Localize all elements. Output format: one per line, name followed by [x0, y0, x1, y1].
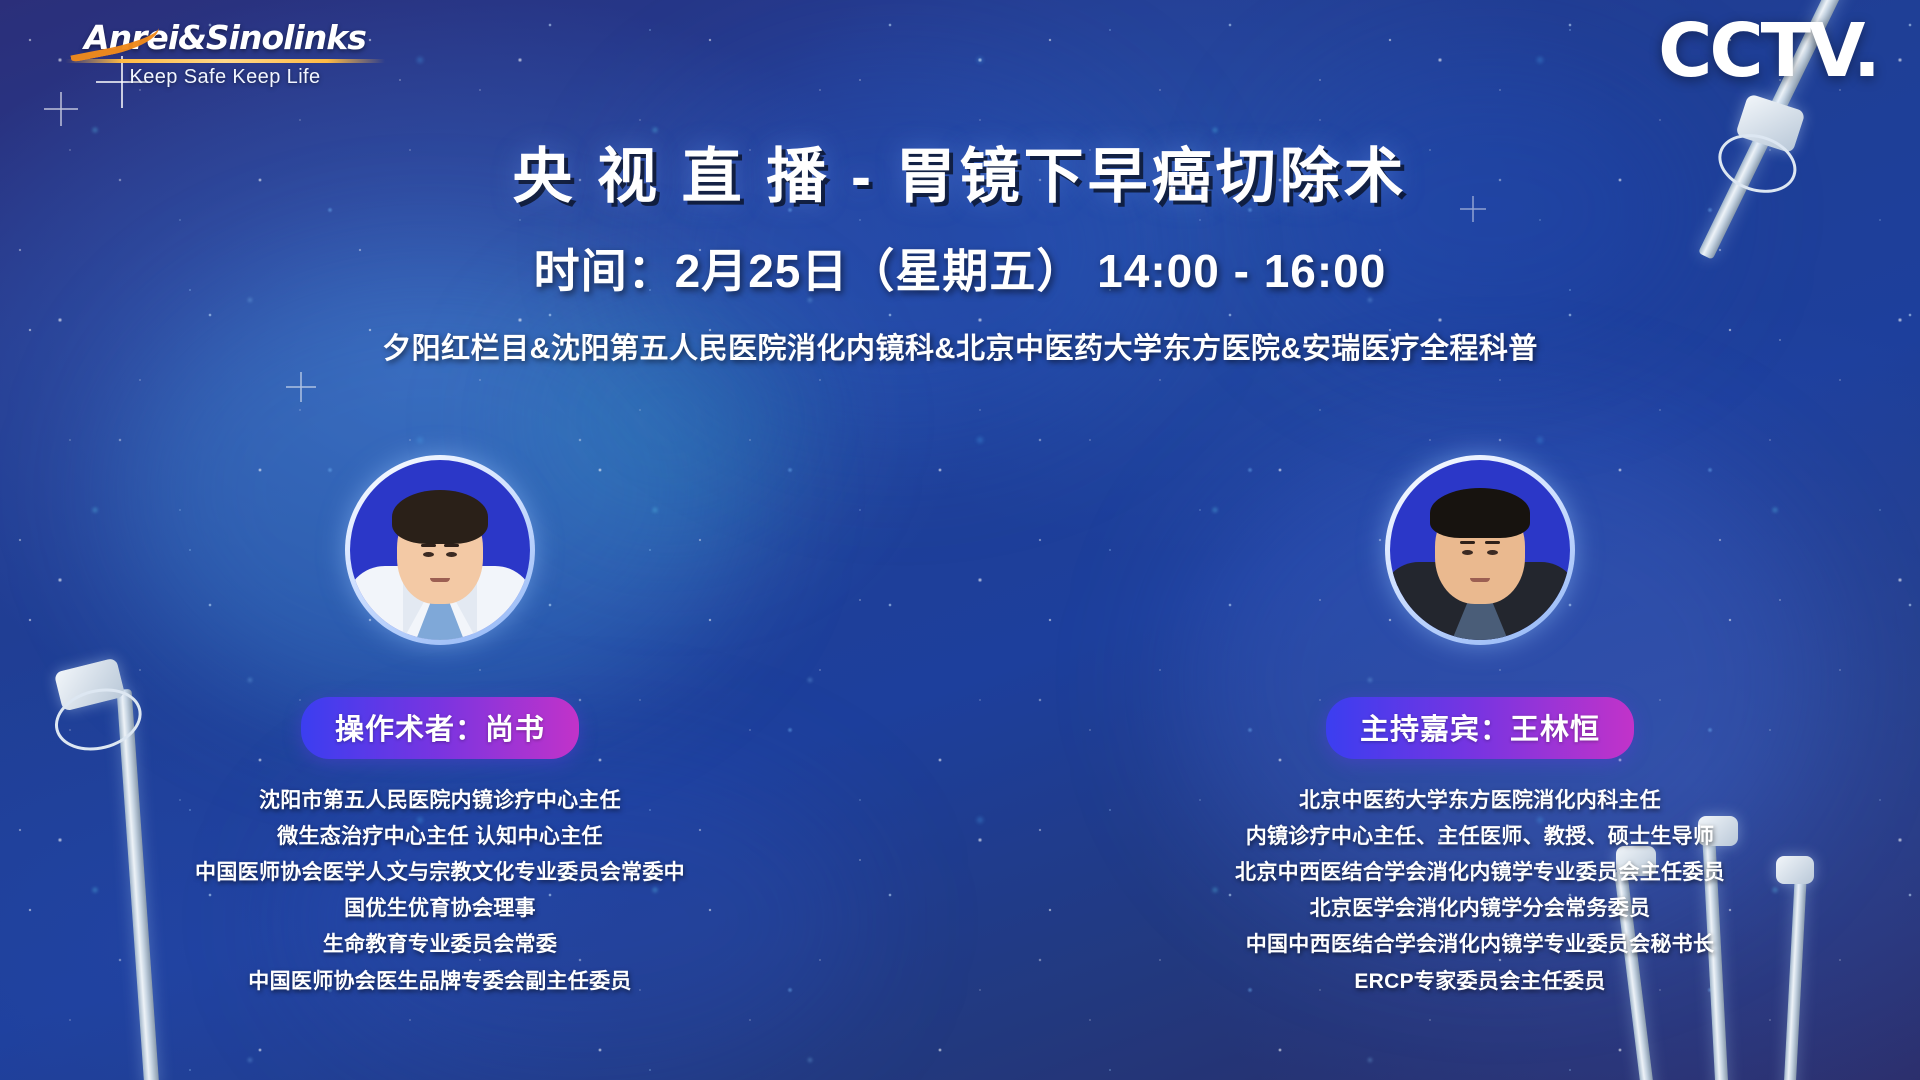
credential-line: ERCP专家委员会主任委员 [1200, 964, 1760, 1000]
brand-tagline: Keep Safe Keep Life [60, 66, 390, 89]
page-title: 央 视 直 播 - 胃镜下早癌切除术 [0, 128, 1920, 215]
credential-line: 沈阳市第五人民医院内镜诊疗中心主任 [160, 783, 720, 819]
avatar-portrait [350, 460, 530, 640]
cctv-logo: CCTV. [1658, 14, 1878, 88]
credential-line: 北京中西医结合学会消化内镜学专业委员会主任委员 [1200, 855, 1760, 891]
speaker-name-badge: 操作术者：尚书 [301, 697, 579, 759]
organizations-line: 夕阳红栏目&沈阳第五人民医院消化内镜科&北京中医药大学东方医院&安瑞医疗全程科普 [0, 325, 1920, 367]
speakers-section: 操作术者：尚书 沈阳市第五人民医院内镜诊疗中心主任 微生态治疗中心主任 认知中心… [0, 455, 1920, 1000]
credential-line: 中国医师协会医生品牌专委会副主任委员 [160, 964, 720, 1000]
speaker-credentials: 北京中医药大学东方医院消化内科主任 内镜诊疗中心主任、主任医师、教授、硕士生导师… [1200, 783, 1760, 1000]
avatar [345, 455, 535, 645]
credential-line: 生命教育专业委员会常委 [160, 927, 720, 963]
speaker-card-operator: 操作术者：尚书 沈阳市第五人民医院内镜诊疗中心主任 微生态治疗中心主任 认知中心… [160, 455, 720, 1000]
sparkle-icon [44, 92, 78, 126]
avatar [1385, 455, 1575, 645]
portrait-hair [1430, 488, 1530, 538]
headline-block: 央 视 直 播 - 胃镜下早癌切除术 时间：2月25日（星期五） 14:00 -… [0, 128, 1920, 367]
event-time: 时间：2月25日（星期五） 14:00 - 16:00 [0, 235, 1920, 301]
credential-line: 北京医学会消化内镜学分会常务委员 [1200, 891, 1760, 927]
portrait-hair [392, 490, 488, 544]
credential-line: 微生态治疗中心主任 认知中心主任 [160, 819, 720, 855]
speaker-credentials: 沈阳市第五人民医院内镜诊疗中心主任 微生态治疗中心主任 认知中心主任 中国医师协… [160, 783, 720, 1000]
brand-logo: Anrei&Sinolinks Keep Safe Keep Life [60, 18, 390, 89]
credential-line: 中国中西医结合学会消化内镜学专业委员会秘书长 [1200, 927, 1760, 963]
speaker-card-host: 主持嘉宾：王林恒 北京中医药大学东方医院消化内科主任 内镜诊疗中心主任、主任医师… [1200, 455, 1760, 1000]
credential-line: 北京中医药大学东方医院消化内科主任 [1200, 783, 1760, 819]
sparkle-icon [286, 372, 316, 402]
credential-line: 国优生优育协会理事 [160, 891, 720, 927]
credential-line: 内镜诊疗中心主任、主任医师、教授、硕士生导师 [1200, 819, 1760, 855]
live-broadcast-poster: Anrei&Sinolinks Keep Safe Keep Life CCTV… [0, 0, 1920, 1080]
speaker-name-badge: 主持嘉宾：王林恒 [1326, 697, 1634, 759]
credential-line: 中国医师协会医学人文与宗教文化专业委员会常委中 [160, 855, 720, 891]
brand-divider [65, 59, 385, 63]
avatar-portrait [1390, 460, 1570, 640]
